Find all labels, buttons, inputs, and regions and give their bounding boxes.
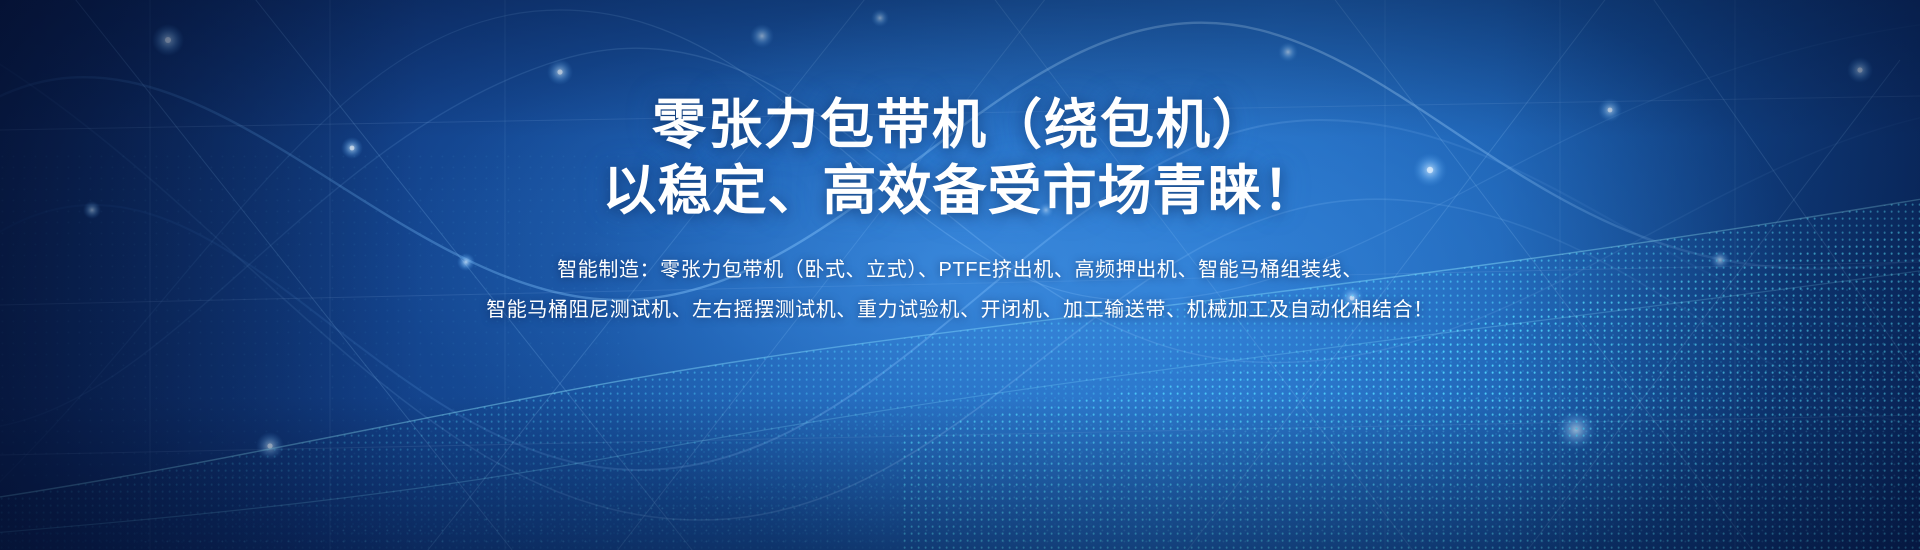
subtitle-line-1: 智能制造：零张力包带机（卧式、立式）、PTFE挤出机、高频押出机、智能马桶组装线… <box>0 250 1920 290</box>
headline-line-2: 以稳定、高效备受市场青睐！ <box>0 158 1920 224</box>
subtitle-line-2: 智能马桶阻尼测试机、左右摇摆测试机、重力试验机、开闭机、加工输送带、机械加工及自… <box>0 290 1920 330</box>
headline-line-1: 零张力包带机（绕包机） <box>0 92 1920 158</box>
hero-banner: 零张力包带机（绕包机） 以稳定、高效备受市场青睐！ 智能制造：零张力包带机（卧式… <box>0 0 1920 550</box>
banner-text-block: 零张力包带机（绕包机） 以稳定、高效备受市场青睐！ 智能制造：零张力包带机（卧式… <box>0 92 1920 330</box>
subtitle-block: 智能制造：零张力包带机（卧式、立式）、PTFE挤出机、高频押出机、智能马桶组装线… <box>0 250 1920 330</box>
